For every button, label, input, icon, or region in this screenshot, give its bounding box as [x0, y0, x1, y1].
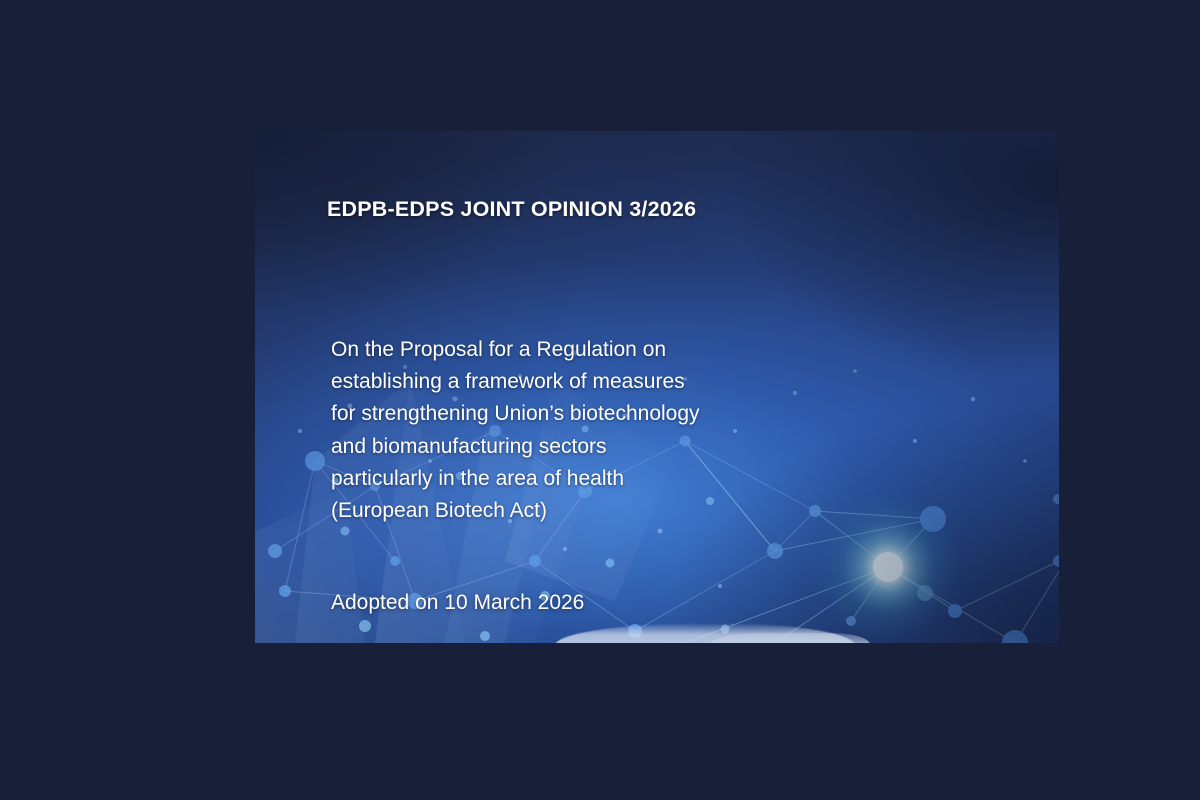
cover-body-text: On the Proposal for a Regulation on esta… [331, 334, 801, 527]
adoption-date: Adopted on 10 March 2026 [331, 591, 584, 615]
body-line: and biomanufacturing sectors [331, 431, 801, 463]
body-line: establishing a framework of measures [331, 366, 801, 398]
body-line: On the Proposal for a Regulation on [331, 334, 801, 366]
body-line: for strengthening Union’s biotechnology [331, 398, 801, 430]
page-canvas: EDPB-EDPS JOINT OPINION 3/2026 On the Pr… [0, 0, 1200, 800]
cover-title: EDPB-EDPS JOINT OPINION 3/2026 [327, 197, 696, 222]
bottom-light-object-secondary [710, 633, 870, 643]
cover-image-panel: EDPB-EDPS JOINT OPINION 3/2026 On the Pr… [255, 131, 1059, 643]
body-line: particularly in the area of health [331, 463, 801, 495]
body-line: (European Biotech Act) [331, 495, 801, 527]
